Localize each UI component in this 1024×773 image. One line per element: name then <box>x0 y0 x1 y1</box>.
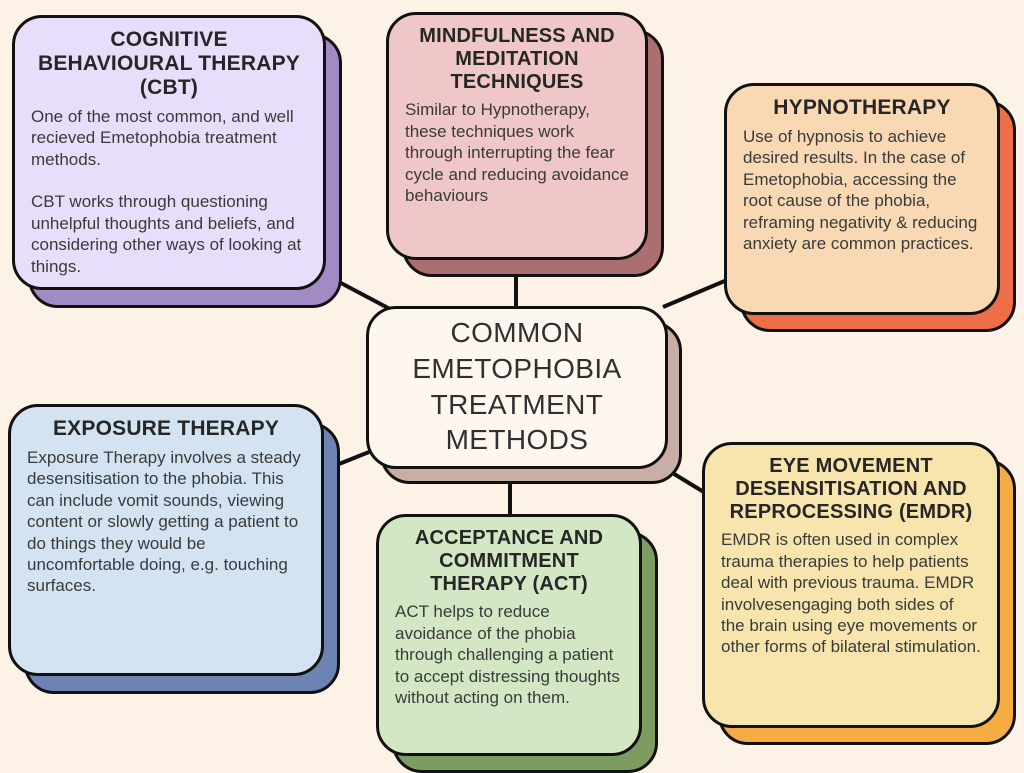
center-node-surface: COMMON EMETOPHOBIA TREATMENT METHODS <box>366 306 668 469</box>
center-node-common-emetophobia-treatment-methods[interactable]: COMMON EMETOPHOBIA TREATMENT METHODS <box>366 306 682 484</box>
infographic-canvas: COGNITIVE BEHAVIOURAL THERAPY (CBT) One … <box>0 0 1024 768</box>
center-node-title: COMMON EMETOPHOBIA TREATMENT METHODS <box>412 315 621 458</box>
card-body: One of the most common, and well recieve… <box>31 106 307 277</box>
card-surface: ACCEPTANCE AND COMMITMENT THERAPY (ACT) … <box>376 514 642 756</box>
card-acceptance-and-commitment-therapy[interactable]: ACCEPTANCE AND COMMITMENT THERAPY (ACT) … <box>376 514 658 768</box>
card-surface: EYE MOVEMENT DESENSITISATION AND REPROCE… <box>702 442 1000 728</box>
connector-center-to-hypnotherapy <box>663 280 727 307</box>
card-title: ACCEPTANCE AND COMMITMENT THERAPY (ACT) <box>395 527 623 595</box>
card-body: Exposure Therapy involves a steady desen… <box>27 447 305 597</box>
card-title: EXPOSURE THERAPY <box>27 417 305 441</box>
card-title: EYE MOVEMENT DESENSITISATION AND REPROCE… <box>721 455 981 523</box>
card-cognitive-behavioural-therapy[interactable]: COGNITIVE BEHAVIOURAL THERAPY (CBT) One … <box>12 15 342 308</box>
card-title: COGNITIVE BEHAVIOURAL THERAPY (CBT) <box>31 28 307 100</box>
card-eye-movement-desensitisation-and-reprocessing[interactable]: EYE MOVEMENT DESENSITISATION AND REPROCE… <box>702 442 1016 745</box>
card-surface: COGNITIVE BEHAVIOURAL THERAPY (CBT) One … <box>12 15 326 290</box>
card-surface: EXPOSURE THERAPY Exposure Therapy involv… <box>8 404 324 676</box>
card-exposure-therapy[interactable]: EXPOSURE THERAPY Exposure Therapy involv… <box>8 404 340 694</box>
card-body: EMDR is often used in complex trauma the… <box>721 529 981 657</box>
card-surface: HYPNOTHERAPY Use of hypnosis to achieve … <box>724 83 1000 315</box>
card-hypnotherapy[interactable]: HYPNOTHERAPY Use of hypnosis to achieve … <box>724 83 1016 332</box>
card-surface: MINDFULNESS AND MEDITATION TECHNIQUES Si… <box>386 12 648 260</box>
card-body: Use of hypnosis to achieve desired resul… <box>743 126 981 254</box>
connector-center-to-cbt <box>339 282 390 309</box>
card-title: MINDFULNESS AND MEDITATION TECHNIQUES <box>405 25 629 93</box>
card-body: Similar to Hypnotherapy, these technique… <box>405 99 629 206</box>
card-body: ACT helps to reduce avoidance of the pho… <box>395 601 623 708</box>
card-mindfulness-and-meditation-techniques[interactable]: MINDFULNESS AND MEDITATION TECHNIQUES Si… <box>386 12 664 277</box>
card-title: HYPNOTHERAPY <box>743 96 981 120</box>
